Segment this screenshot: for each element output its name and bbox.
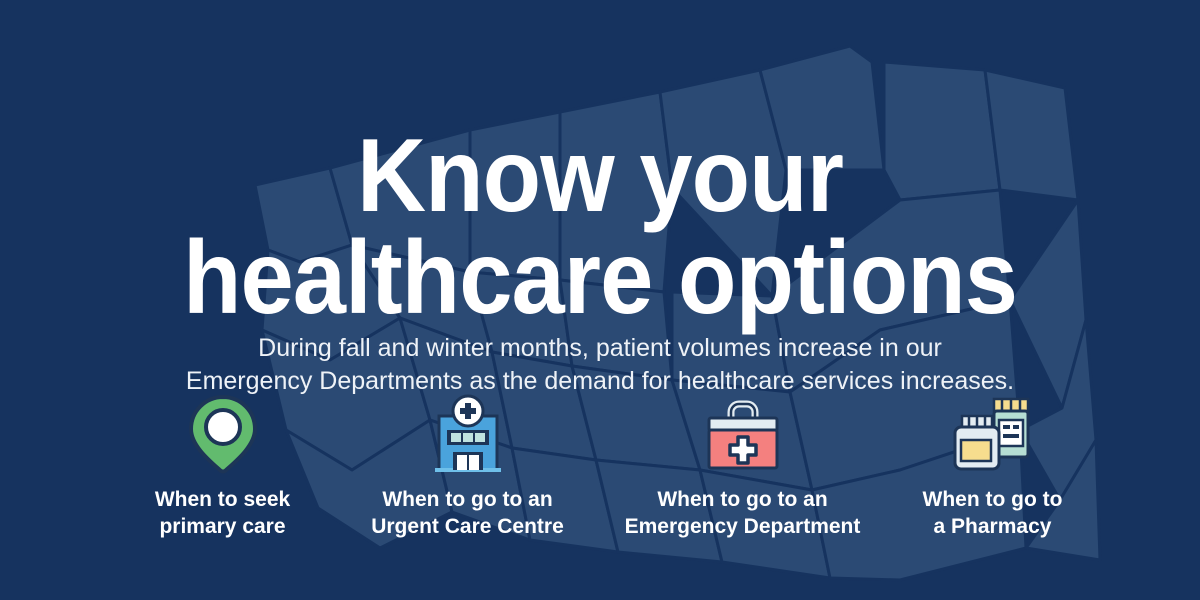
subtitle: During fall and winter months, patient v…: [0, 332, 1200, 399]
option-label-primary-care: When to seek primary care: [155, 486, 290, 541]
hospital-building-icon: [429, 396, 507, 474]
map-pin-icon: [186, 396, 260, 474]
label-line-1: When to go to an: [625, 486, 861, 513]
label-line-2: primary care: [155, 513, 290, 540]
label-line-1: When to go to: [923, 486, 1063, 513]
option-primary-care[interactable]: When to seek primary care: [130, 396, 315, 541]
label-line-2: Emergency Department: [625, 513, 861, 540]
label-line-2: Urgent Care Centre: [371, 513, 564, 540]
label-line-1: When to seek: [155, 486, 290, 513]
healthcare-options-row: When to seek primary care: [130, 396, 1080, 541]
option-pharmacy[interactable]: When to go to a Pharmacy: [905, 396, 1080, 541]
option-label-pharmacy: When to go to a Pharmacy: [923, 486, 1063, 541]
option-urgent-care[interactable]: When to go to an Urgent Care Centre: [355, 396, 580, 541]
title-line-1: Know your: [48, 126, 1152, 228]
title-line-2: healthcare options: [48, 228, 1152, 330]
option-label-urgent-care: When to go to an Urgent Care Centre: [371, 486, 564, 541]
page-title: Know your healthcare options: [48, 126, 1152, 330]
label-line-1: When to go to an: [371, 486, 564, 513]
healthcare-options-poster: Know your healthcare options During fall…: [0, 0, 1200, 600]
label-line-2: a Pharmacy: [923, 513, 1063, 540]
option-emergency-department[interactable]: When to go to an Emergency Department: [620, 396, 865, 541]
subtitle-line-1: During fall and winter months, patient v…: [0, 332, 1200, 365]
pill-bottles-icon: [950, 396, 1036, 474]
option-label-emergency-department: When to go to an Emergency Department: [625, 486, 861, 541]
first-aid-kit-icon: [701, 396, 785, 474]
